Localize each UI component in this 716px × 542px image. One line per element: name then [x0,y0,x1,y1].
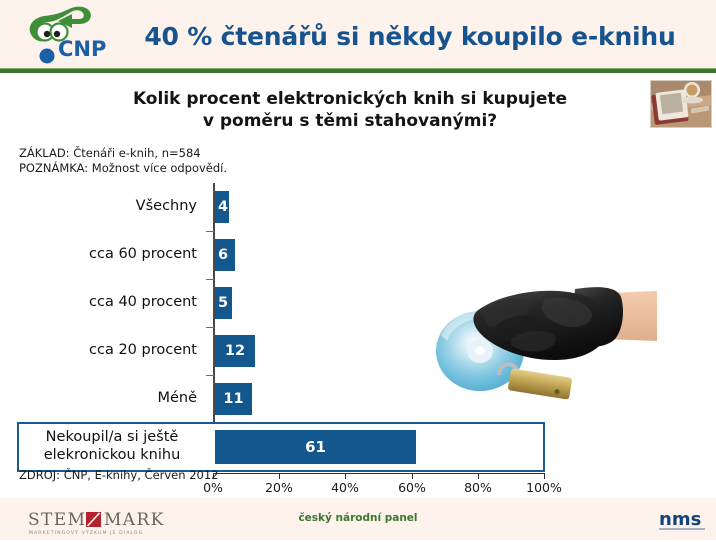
slide-footer: STEM MARK MARKETINGOVÝ VÝZKUM JE DIALOG … [0,498,716,540]
bar-value-label: 6 [218,247,228,263]
ereader-photo [650,80,712,128]
x-axis-tick [279,473,280,479]
bar: 6 [215,239,235,271]
logo-dot [40,49,55,64]
question-line-1: Kolik procent elektronických knih si kup… [70,89,630,111]
category-label-highlighted: Nekoupil/a si ještě elekronickou knihu [19,423,205,471]
x-axis-label: 100% [514,480,574,495]
ereader-on-table-image [651,81,711,127]
nms-logo-icon: nms [655,506,710,536]
x-axis-label: 40% [315,480,375,495]
slide-header: CNP 40 % čtenářů si někdy koupilo e-knih… [0,0,716,68]
stemmark-text-part2: MARK [104,510,165,530]
x-axis-line [213,473,545,474]
bar: 12 [215,335,255,367]
page-title: 40 % čtenářů si někdy koupilo e-knihu [120,14,700,58]
category-label: cca 60 procent [0,231,205,279]
nms-logo-text: nms [659,509,701,530]
bar-value-label: 12 [225,343,245,359]
category-label: cca 40 procent [0,279,205,327]
x-axis-label: 20% [249,480,309,495]
chart-row: cca 20 procent 12 [0,327,575,375]
stemmark-tagline: MARKETINGOVÝ VÝZKUM JE DIALOG [29,529,143,536]
nms-logo: nms [655,506,710,536]
chart-row: cca 40 procent 5 [0,279,575,327]
category-label: Všechny [0,183,205,231]
stemmark-logo-icon: STEM MARK MARKETINGOVÝ VÝZKUM JE DIALOG [14,508,244,538]
bar: 5 [215,287,232,319]
category-label-line-2: elekronickou knihu [44,447,181,465]
bar: 11 [215,383,252,415]
footer-center-text: český národní panel [258,512,458,524]
bar-value-label: 11 [223,391,243,407]
chart-row: cca 60 procent 6 [0,231,575,279]
chart-row: Méně 11 [0,375,575,423]
slide-body: Kolik procent elektronických knih si kup… [0,73,716,498]
bar: 4 [215,191,229,223]
x-axis-tick [478,473,479,479]
cnp-logo: CNP [14,6,110,64]
bar-value-label: 61 [305,438,326,456]
stemmark-text-part1: STEM [28,510,86,530]
category-label: cca 20 procent [0,327,205,375]
x-axis-tick [412,473,413,479]
x-axis-tick [345,473,346,479]
source-note: ZDROJ: ČNP, E-knihy, Červen 2012 [19,468,218,482]
base-note: ZÁKLAD: Čtenáři e-knih, n=584 POZNÁMKA: … [19,146,499,176]
chart-row: Všechny 4 [0,183,575,231]
x-axis-label: 0% [183,480,243,495]
x-axis-label: 80% [448,480,508,495]
base-note-line-1: ZÁKLAD: Čtenáři e-knih, n=584 [19,146,499,161]
pupil-left [44,31,50,37]
stemmark-logo: STEM MARK MARKETINGOVÝ VÝZKUM JE DIALOG [14,508,244,538]
question-line-2: v poměru s těmi stahovanými? [70,111,630,133]
x-axis-tick [544,473,545,479]
cnp-logo-text: CNP [58,37,106,61]
question-heading: Kolik procent elektronických knih si kup… [70,89,630,133]
x-axis-label: 60% [382,480,442,495]
bar-chart: Všechny 4 cca 60 procent 6 cca 40 procen… [0,183,575,473]
bar-highlighted: 61 [215,430,416,464]
bar-value-label: 5 [218,295,228,311]
cnp-worm-logo-icon: CNP [14,6,110,64]
category-label-line-1: Nekoupil/a si ještě [46,429,179,447]
base-note-line-2: POZNÁMKA: Možnost více odpovědí. [19,161,499,176]
bar-value-label: 4 [218,199,228,215]
category-label: Méně [0,375,205,423]
